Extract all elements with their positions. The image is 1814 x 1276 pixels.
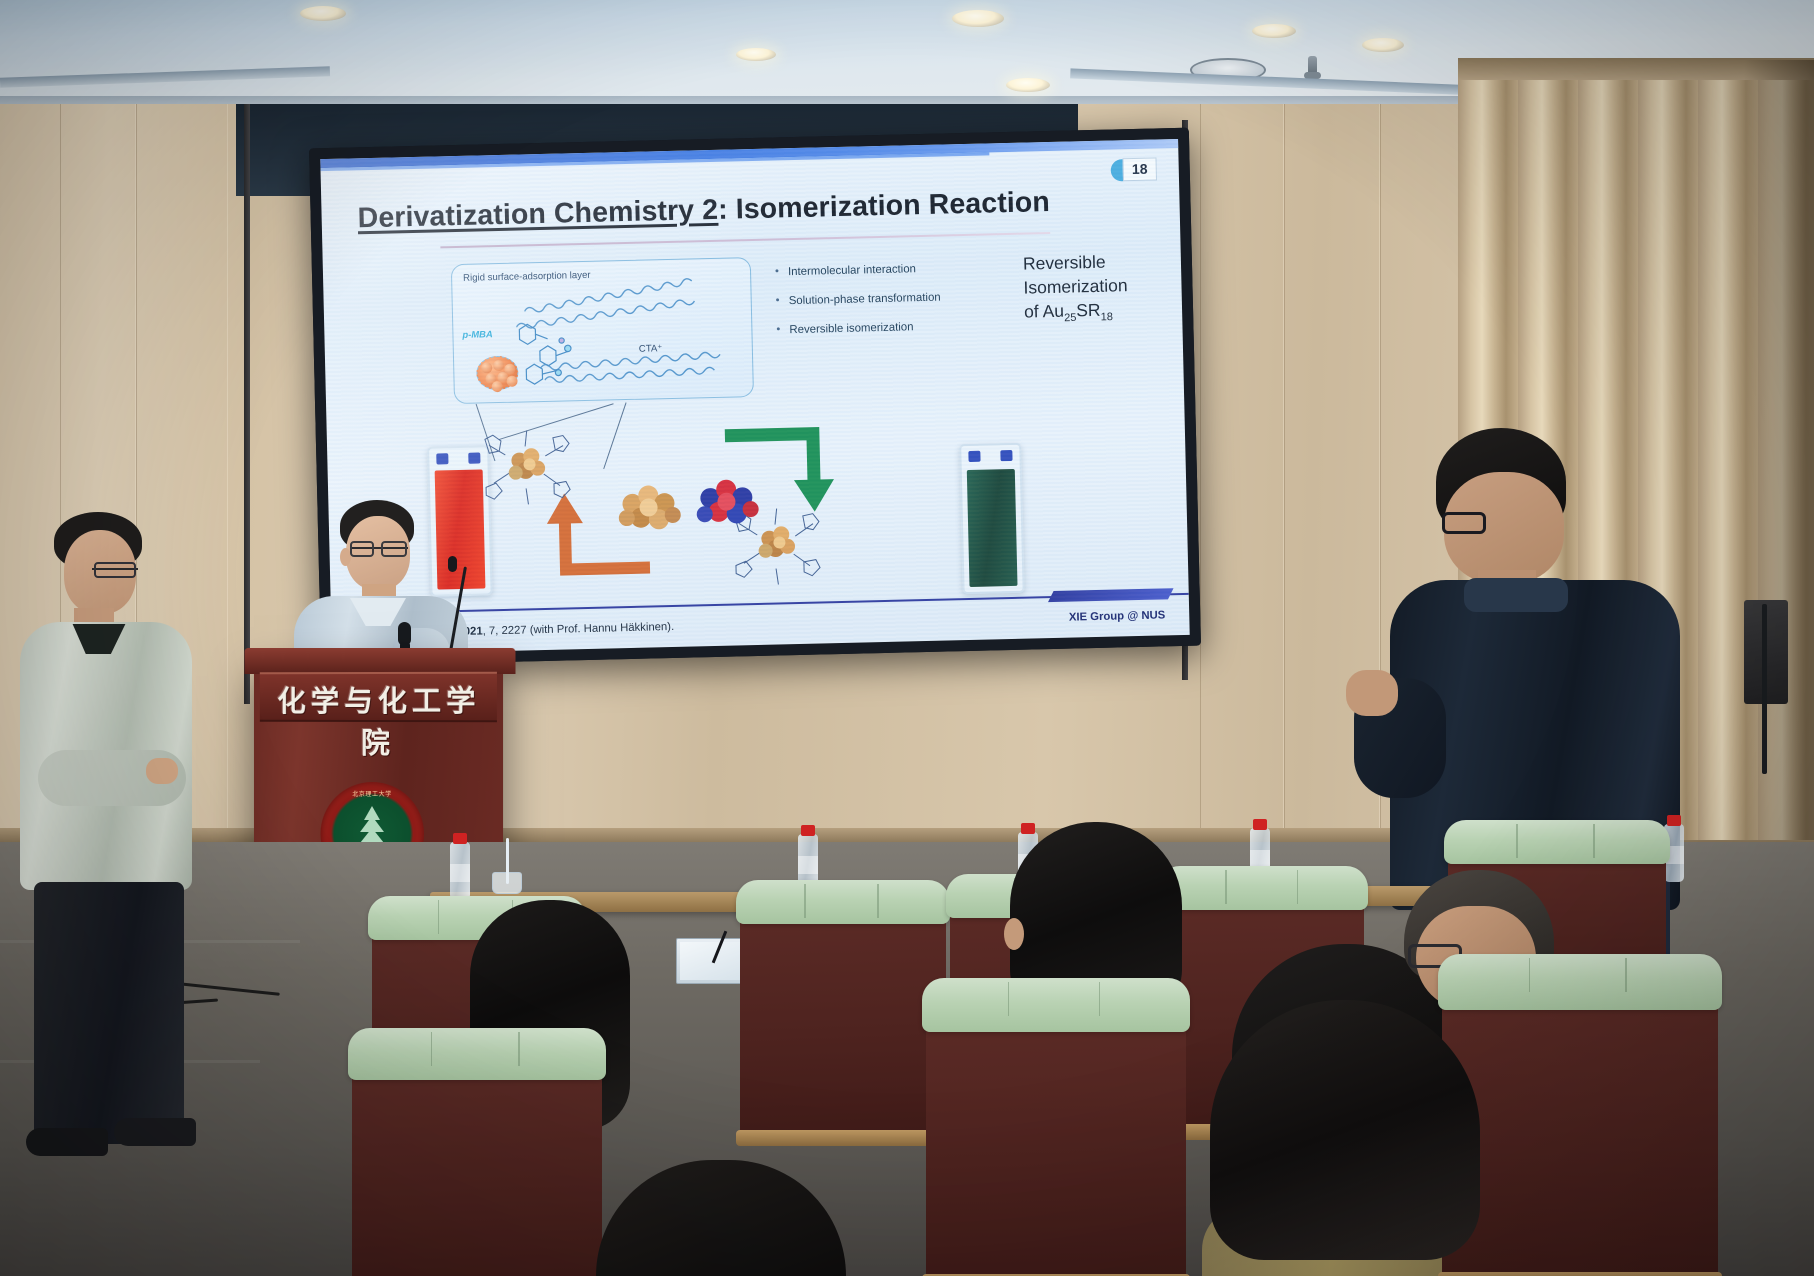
green-solution bbox=[967, 469, 1018, 587]
wall-dark-post bbox=[244, 104, 250, 704]
bottle-cap bbox=[1253, 819, 1267, 830]
cuvette-cap bbox=[1000, 450, 1012, 461]
observer-left-shoe bbox=[114, 1118, 196, 1146]
observer-left-hand bbox=[146, 758, 178, 784]
bullet-item: Solution-phase transformation bbox=[776, 290, 1006, 307]
callout-formula-mid: SR bbox=[1076, 299, 1101, 320]
inset-schematic-box: Rigid surface-adsorption layer p-MBA CTA… bbox=[451, 257, 754, 404]
presenter-glasses-lens-r bbox=[381, 541, 407, 557]
audience-center-ear bbox=[1004, 918, 1024, 950]
ceiling-downlight bbox=[952, 10, 1004, 27]
slide-group-credit: XIE Group @ NUS bbox=[1069, 609, 1166, 623]
slide-title-underlined: Derivatization Chemistry 2 bbox=[357, 194, 718, 234]
ceiling-downlight bbox=[1006, 78, 1050, 92]
slide-number-badge: 18 bbox=[1110, 157, 1157, 182]
cuvette-cap bbox=[436, 453, 448, 464]
seat-headrest-pad bbox=[1438, 954, 1722, 1010]
gold-core-model-colored bbox=[692, 475, 765, 537]
audience-member-bottom-left bbox=[596, 1160, 846, 1276]
observer-left-glasses-lens bbox=[94, 562, 136, 578]
observer-left-trousers bbox=[34, 882, 184, 1144]
gold-cluster-structure-left bbox=[479, 423, 577, 511]
podium-mic-capsule bbox=[448, 556, 457, 572]
pmba-label: p-MBA bbox=[462, 328, 492, 340]
front-closest-hair bbox=[1210, 1000, 1480, 1260]
callout-text: Reversible Isomerization of Au25SR18 bbox=[1023, 249, 1185, 327]
green-solution-cuvette bbox=[959, 443, 1025, 594]
seat-headrest-pad bbox=[1158, 866, 1368, 910]
water-bottle bbox=[450, 842, 470, 900]
gold-core-model-plain bbox=[614, 481, 687, 541]
mic-boom-stand bbox=[1762, 604, 1767, 774]
bullet-item: Intermolecular interaction bbox=[775, 261, 1005, 278]
bottle-cap bbox=[1667, 815, 1681, 826]
seat-headrest-pad bbox=[736, 880, 950, 924]
bottom-left-hair bbox=[596, 1160, 846, 1276]
audience-member-front-closest bbox=[1210, 1000, 1480, 1276]
drink-straw bbox=[506, 838, 509, 884]
callout-sub-25: 25 bbox=[1064, 312, 1077, 324]
callout-sub-18: 18 bbox=[1101, 311, 1114, 323]
callout-formula-prefix: of Au bbox=[1024, 300, 1064, 321]
ceiling-downlight bbox=[1362, 38, 1404, 52]
slide-number-value: 18 bbox=[1122, 157, 1157, 181]
bullet-item: Reversible isomerization bbox=[776, 319, 1006, 336]
bottle-cap bbox=[801, 825, 815, 836]
bottle-cap bbox=[453, 833, 467, 844]
curtain-shadow bbox=[1744, 60, 1814, 840]
inset-label: Rigid surface-adsorption layer bbox=[463, 269, 633, 285]
seat-back bbox=[926, 1010, 1186, 1276]
bottle-label bbox=[798, 856, 818, 874]
callout-line-3: of Au25SR18 bbox=[1024, 296, 1185, 326]
bullet-list: Intermolecular interaction Solution-phas… bbox=[775, 261, 1007, 353]
citation-rest: , 7, 2227 (with Prof. Hannu Häkkinen). bbox=[483, 621, 675, 638]
sprinkler-head bbox=[1308, 56, 1317, 78]
seat-headrest-pad bbox=[348, 1028, 606, 1080]
seat-wood-trim bbox=[736, 1130, 950, 1146]
lecture-hall-scene: 18 Derivatization Chemistry 2: Isomeriza… bbox=[0, 0, 1814, 1276]
ligand-structure-icon bbox=[505, 314, 603, 396]
seat-row2 bbox=[352, 1058, 602, 1276]
lectern-top-surface bbox=[244, 648, 515, 674]
seat-back bbox=[1442, 988, 1718, 1276]
seat-wood-trim bbox=[1438, 1272, 1722, 1276]
attendee-right-collar bbox=[1464, 578, 1568, 612]
inset-leader-line bbox=[603, 402, 626, 469]
lectern-department-label: 化学与化工学院 bbox=[264, 678, 495, 763]
attendee-right-hand bbox=[1346, 670, 1398, 716]
wall-panel bbox=[1200, 104, 1284, 884]
seat-headrest-pad bbox=[1444, 820, 1670, 864]
presenter-glasses-lens-l bbox=[350, 541, 374, 557]
footer-accent-tab bbox=[1048, 588, 1174, 602]
ceiling-downlight bbox=[736, 48, 776, 61]
seat-back bbox=[352, 1058, 602, 1276]
seat-back bbox=[740, 906, 946, 1136]
seat-headrest-pad bbox=[922, 978, 1190, 1032]
title-divider-rule bbox=[440, 232, 1050, 248]
emblem-top-text: 北京理工大学 bbox=[320, 789, 424, 798]
standing-observer-left bbox=[20, 512, 200, 1152]
slide-title-rest: : Isomerization Reaction bbox=[718, 186, 1050, 226]
seat-row2 bbox=[1442, 988, 1718, 1276]
slide-title: Derivatization Chemistry 2: Isomerizatio… bbox=[357, 183, 1178, 235]
ceiling-downlight bbox=[300, 6, 346, 21]
seat-row1 bbox=[740, 906, 946, 1136]
attendee-right-glasses bbox=[1442, 512, 1486, 534]
bottle-label bbox=[450, 864, 470, 882]
cuvette-cap bbox=[968, 451, 980, 462]
seat-row2 bbox=[926, 1010, 1186, 1276]
ceiling-downlight bbox=[1252, 24, 1296, 38]
observer-left-shoe bbox=[26, 1128, 108, 1156]
